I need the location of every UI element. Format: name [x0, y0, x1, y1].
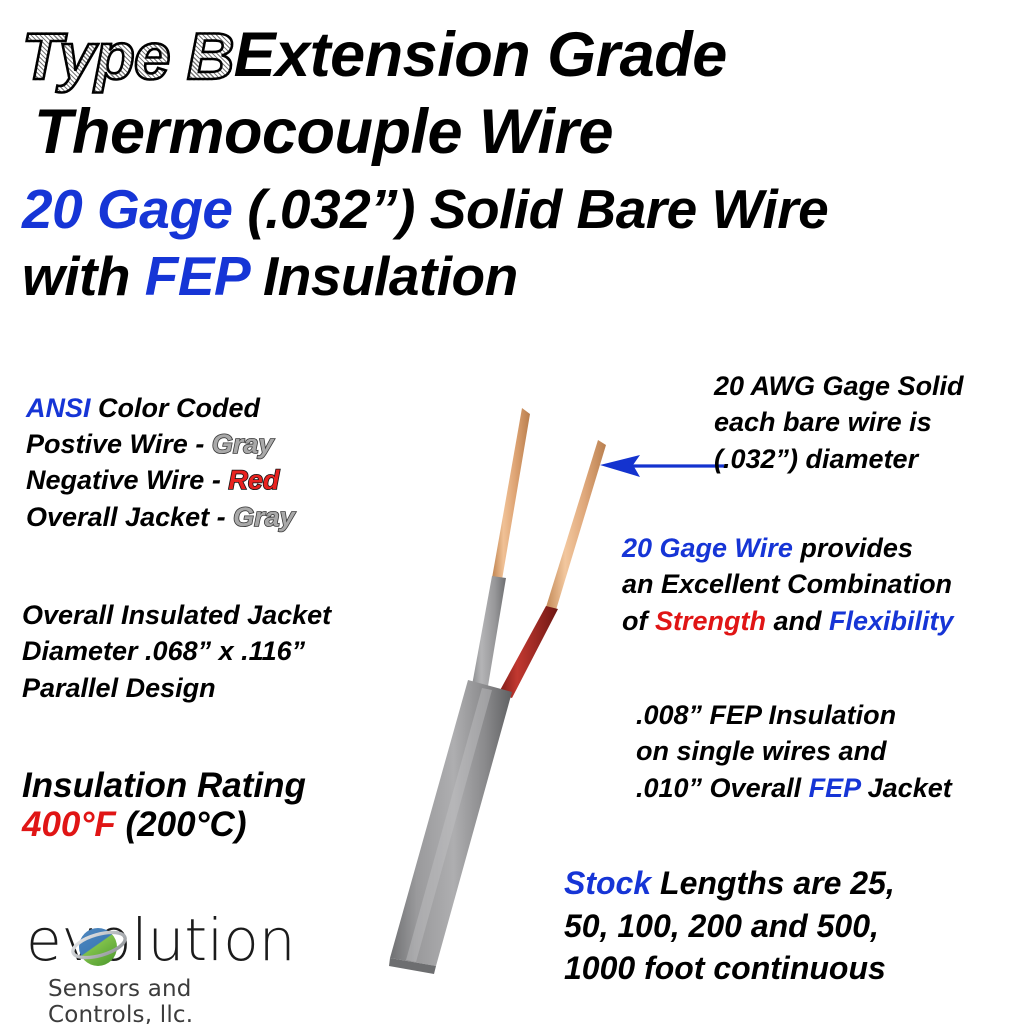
overall-jacket-label: Overall Jacket - — [26, 502, 233, 532]
gage-line-3-pre: of — [622, 606, 655, 636]
gage-line-1-rest: provides — [793, 533, 913, 563]
product-infographic: Type BExtension Grade Thermocouple Wire … — [0, 0, 1024, 1024]
headline-line-4-post: Insulation — [248, 245, 518, 307]
positive-wire-label: Postive Wire - — [26, 429, 212, 459]
fep-line-3-pre: .010” Overall — [636, 773, 809, 803]
red-insulated-wire — [498, 606, 558, 698]
awg-line-1: 20 AWG Gage Solid — [714, 368, 964, 404]
callout-arrow-container — [596, 448, 726, 484]
headline-line-1: Type BExtension Grade — [22, 20, 1012, 87]
flexibility-highlight: Flexibility — [829, 606, 954, 636]
fep-insulation-block: .008” FEP Insulation on single wires and… — [636, 697, 952, 806]
ansi-highlight: ANSI — [26, 393, 91, 423]
headline-line-4: with FEP Insulation — [22, 249, 1012, 304]
negative-wire-color-swatch: Red — [228, 465, 279, 495]
headline-fep-highlight: FEP — [145, 245, 248, 307]
ansi-rest: Color Coded — [91, 393, 261, 423]
headline-line-3-rest: (.032”) Solid Bare Wire — [233, 178, 829, 240]
type-b-badge: Type B — [22, 19, 234, 93]
jacket-highlight — [406, 688, 492, 962]
stock-line-2: 50, 100, 200 and 500, — [564, 905, 895, 948]
globe-sphere-graphic — [68, 920, 130, 972]
gage-line-1: 20 Gage Wire provides — [622, 530, 954, 566]
stock-highlight: Stock — [564, 865, 651, 901]
insulation-rating-block: Insulation Rating 400°F (200°C) — [22, 766, 306, 844]
strength-highlight: Strength — [655, 606, 766, 636]
gage-benefits-block: 20 Gage Wire provides an Excellent Combi… — [622, 530, 954, 639]
fep-highlight: FEP — [809, 773, 861, 803]
bare-copper-wire-left — [492, 408, 530, 580]
stock-lengths-block: Stock Lengths are 25, 50, 100, 200 and 5… — [564, 862, 895, 990]
gage-wire-highlight: 20 Gage Wire — [622, 533, 793, 563]
awg-callout-block: 20 AWG Gage Solid each bare wire is (.03… — [714, 368, 964, 477]
positive-wire-color-swatch: Gray — [212, 429, 274, 459]
gage-line-3-mid: and — [766, 606, 829, 636]
gage-line-3: of Strength and Flexibility — [622, 603, 954, 639]
negative-wire-label: Negative Wire - — [26, 465, 228, 495]
rating-fahrenheit: 400°F — [22, 805, 116, 844]
headline-gage-highlight: 20 Gage — [22, 178, 233, 240]
awg-line-2: each bare wire is — [714, 404, 964, 440]
gage-line-2: an Excellent Combination — [622, 566, 954, 602]
company-logo: evolution — [18, 902, 298, 1014]
rating-celsius: (200°C) — [116, 805, 247, 844]
headline-line-2: Thermocouple Wire — [34, 101, 1012, 164]
fep-line-3-post: Jacket — [860, 773, 952, 803]
headline-block: Type BExtension Grade Thermocouple Wire … — [22, 8, 1012, 304]
stock-line-1-rest: Lengths are 25, — [651, 865, 895, 901]
awg-line-3: (.032”) diameter — [714, 441, 964, 477]
headline-line-3: 20 Gage (.032”) Solid Bare Wire — [22, 182, 1012, 237]
globe-icon — [68, 920, 130, 972]
overall-jacket-color-swatch: Gray — [233, 502, 295, 532]
stock-line-1: Stock Lengths are 25, — [564, 862, 895, 905]
logo-subtitle: Sensors and Controls, llc. — [48, 976, 298, 1024]
logo-wordmark: evolution — [26, 906, 295, 974]
arrow-left-icon — [596, 448, 726, 484]
fep-line-3: .010” Overall FEP Jacket — [636, 770, 952, 806]
fep-line-1: .008” FEP Insulation — [636, 697, 952, 733]
headline-line-4-pre: with — [22, 245, 145, 307]
stock-line-3: 1000 foot continuous — [564, 947, 895, 990]
insulation-rating-value: 400°F (200°C) — [22, 805, 306, 844]
headline-line-1-rest: Extension Grade — [234, 20, 727, 90]
insulation-rating-title: Insulation Rating — [22, 766, 306, 805]
fep-line-2: on single wires and — [636, 733, 952, 769]
